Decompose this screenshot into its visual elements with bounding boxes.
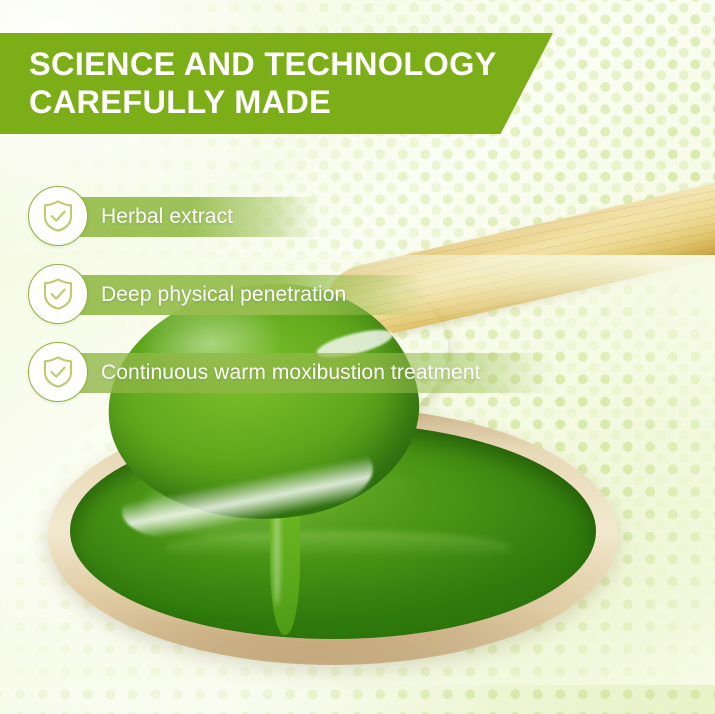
feature-label: Deep physical penetration (101, 275, 346, 315)
shield-check-icon (42, 355, 74, 389)
feature-badge (28, 186, 88, 246)
shield-check-icon (42, 199, 74, 233)
feature-badge (28, 264, 88, 324)
shield-check-icon (42, 277, 74, 311)
feature-label: Herbal extract (101, 197, 233, 237)
feature-label: Continuous warm moxibustion treatment (101, 353, 481, 393)
product-feature-poster: SCIENCE AND TECHNOLOGY CAREFULLY MADE He… (0, 0, 715, 714)
feature-item-continuous-warm-moxibustion-treatment: Continuous warm moxibustion treatment (0, 334, 715, 412)
page-title: SCIENCE AND TECHNOLOGY CAREFULLY MADE (0, 46, 497, 121)
feature-item-herbal-extract: Herbal extract (0, 178, 715, 256)
feature-item-deep-physical-penetration: Deep physical penetration (0, 256, 715, 334)
feature-badge (28, 342, 88, 402)
headline-banner: SCIENCE AND TECHNOLOGY CAREFULLY MADE (0, 33, 553, 134)
feature-list: Herbal extract Deep physical penetration (0, 178, 715, 412)
